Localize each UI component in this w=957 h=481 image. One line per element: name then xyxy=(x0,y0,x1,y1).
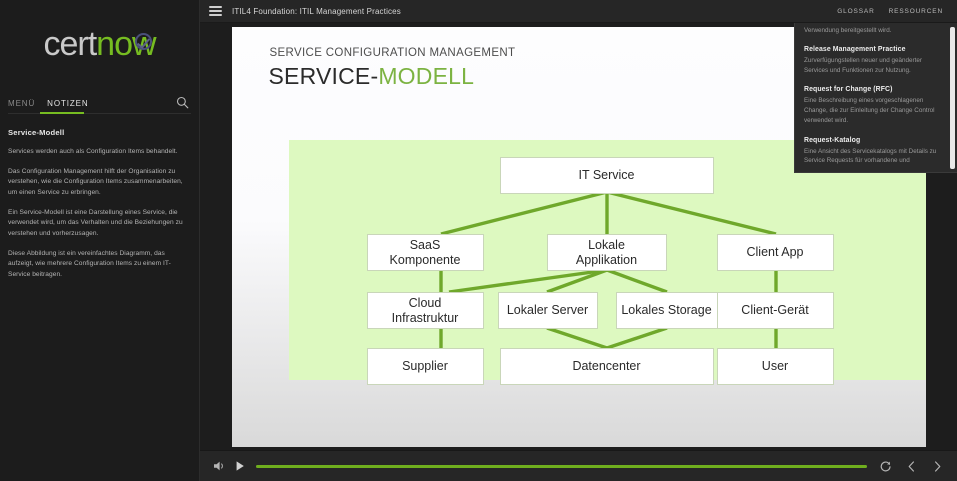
tab-menu[interactable]: MENÜ xyxy=(8,99,41,113)
progress-fill xyxy=(256,465,867,468)
service-model-diagram: IT Service SaaS Komponente Lokale Applik… xyxy=(289,140,926,380)
volume-icon[interactable] xyxy=(210,456,230,476)
notes-paragraph: Services werden auch als Configuration I… xyxy=(8,147,185,158)
glossary-term: Request-Katalog xyxy=(804,137,945,144)
glossary-popup-content: Verwendung bereitgestellt wird. Release … xyxy=(804,23,945,166)
topbar-links: GLOSSAR RESSOURCEN xyxy=(837,8,957,15)
player-control-bar xyxy=(200,450,957,481)
chevron-left-icon[interactable] xyxy=(901,456,921,476)
ressourcen-link[interactable]: RESSOURCEN xyxy=(889,8,943,15)
tab-notizen[interactable]: NOTIZEN xyxy=(47,99,94,113)
slide-title-primary: SERVICE- xyxy=(269,63,379,89)
glossary-definition: Eine Ansicht des Servicekatalogs mit Det… xyxy=(804,147,945,167)
diagram-node-lokale-applikation[interactable]: Lokale Applikation xyxy=(547,234,667,271)
diagram-node-it-service[interactable]: IT Service xyxy=(500,157,714,194)
node-label-line1: Lokale xyxy=(588,238,625,253)
glossary-popup[interactable]: Verwendung bereitgestellt wird. Release … xyxy=(794,23,957,173)
glossary-definition: Eine Beschreibung eines vorgeschlagenen … xyxy=(804,96,945,125)
glossary-definition: Zurverfügungstellen neuer und geänderter… xyxy=(804,56,945,76)
brand-logo[interactable]: certnow xyxy=(0,0,199,88)
search-icon[interactable] xyxy=(176,96,189,109)
notes-paragraph: Das Configuration Management hilft der O… xyxy=(8,167,185,199)
hamburger-menu-icon[interactable] xyxy=(209,6,222,16)
player-right-controls xyxy=(875,456,947,476)
course-title: ITIL4 Foundation: ITIL Management Practi… xyxy=(232,7,401,16)
logo-text-cert: cert xyxy=(43,25,96,63)
diagram-node-saas-komponente[interactable]: SaaS Komponente xyxy=(367,234,484,271)
slide-eyebrow: SERVICE CONFIGURATION MANAGEMENT xyxy=(270,47,516,59)
notes-title: Service-Modell xyxy=(8,128,185,137)
diagram-node-client-app[interactable]: Client App xyxy=(717,234,834,271)
sidebar-tabbar: MENÜ NOTIZEN xyxy=(8,88,191,114)
chevron-right-icon[interactable] xyxy=(927,456,947,476)
diagram-node-datencenter[interactable]: Datencenter xyxy=(500,348,714,385)
glossary-term: Request for Change (RFC) xyxy=(804,86,945,93)
diagram-node-lokales-storage[interactable]: Lokales Storage xyxy=(616,292,718,329)
node-label-line1: SaaS xyxy=(410,238,441,253)
glossary-term: Release Management Practice xyxy=(804,46,945,53)
notes-paragraph: Ein Service-Modell ist eine Darstellung … xyxy=(8,208,185,240)
diagram-node-client-geraet[interactable]: Client-Gerät xyxy=(717,292,834,329)
play-icon[interactable] xyxy=(230,456,250,476)
diagram-node-cloud-infrastruktur[interactable]: Cloud Infrastruktur xyxy=(367,292,484,329)
progress-slider[interactable] xyxy=(256,465,867,468)
glossary-partial-text: Verwendung bereitgestellt wird. xyxy=(804,26,945,36)
node-label-line2: Infrastruktur xyxy=(392,311,459,326)
elearning-player: certnow MENÜ NOTIZEN Service-Modell Serv… xyxy=(0,0,957,481)
notes-panel: Service-Modell Services werden auch als … xyxy=(0,114,199,281)
glossar-link[interactable]: GLOSSAR xyxy=(837,8,874,15)
node-label-line1: Cloud xyxy=(409,296,442,311)
node-label-line2: Komponente xyxy=(390,253,461,268)
page-title: SERVICE-MODELL xyxy=(269,63,475,90)
diagram-node-supplier[interactable]: Supplier xyxy=(367,348,484,385)
slide-title-accent: MODELL xyxy=(378,63,474,89)
node-label-line2: Applikation xyxy=(576,253,637,268)
diagram-node-user[interactable]: User xyxy=(717,348,834,385)
left-sidebar: certnow MENÜ NOTIZEN Service-Modell Serv… xyxy=(0,0,200,481)
top-bar: ITIL4 Foundation: ITIL Management Practi… xyxy=(200,0,957,23)
notes-paragraph: Diese Abbildung ist ein vereinfachtes Di… xyxy=(8,249,185,281)
glossary-scrollbar[interactable] xyxy=(950,27,955,169)
diagram-node-lokaler-server[interactable]: Lokaler Server xyxy=(498,292,598,329)
replay-icon[interactable] xyxy=(875,456,895,476)
